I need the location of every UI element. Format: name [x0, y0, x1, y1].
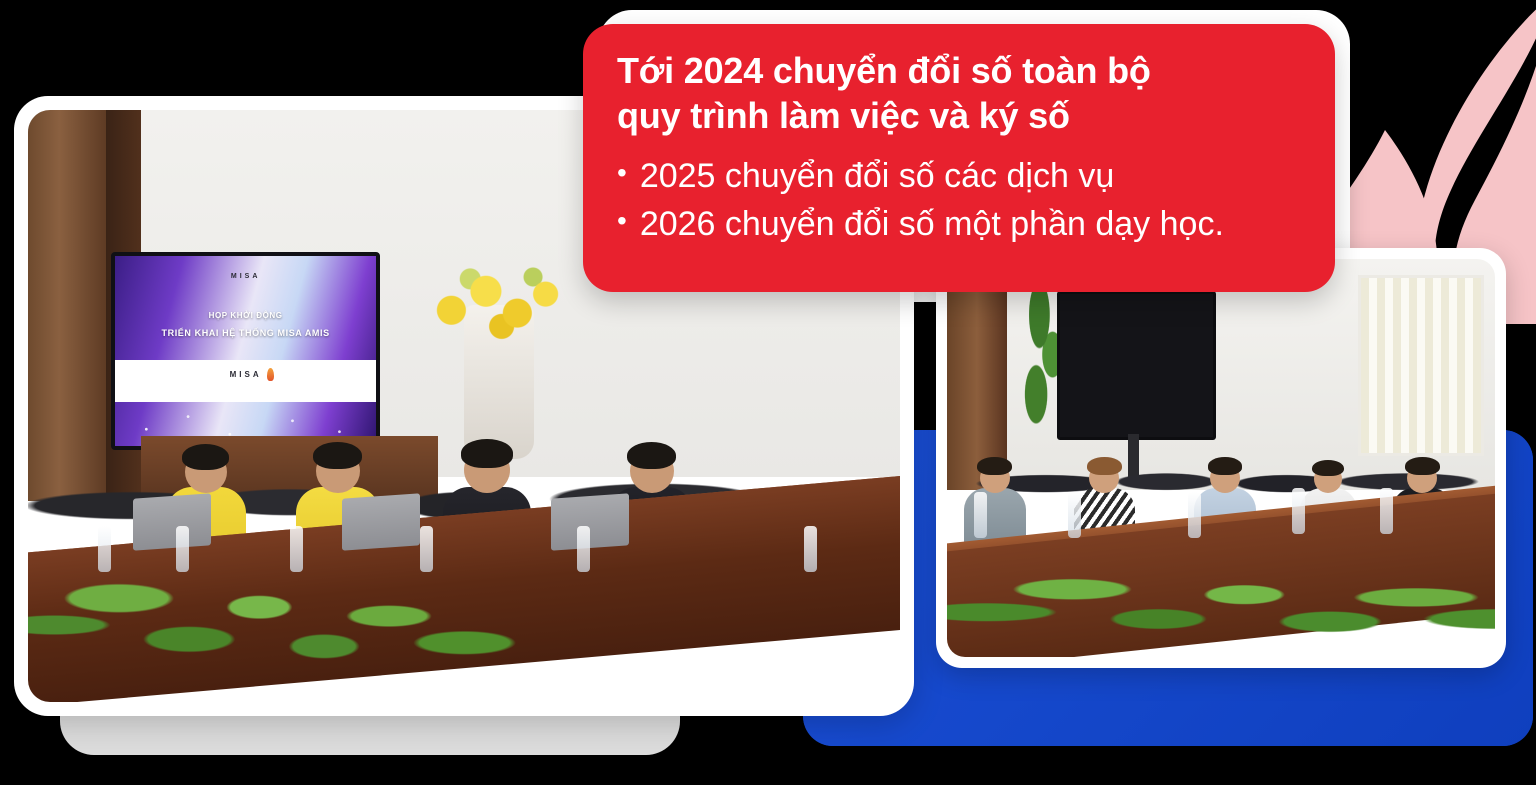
wall-display [1057, 291, 1216, 440]
callout-bullet-text: 2026 chuyển đổi số một phần dạy học. [640, 200, 1224, 248]
photo-right-meeting [936, 248, 1506, 668]
slide-title-line-2: TRIỂN KHAI HỆ THỐNG MISA AMIS [115, 328, 377, 338]
slide-logo-mid: MISA [115, 370, 377, 379]
slide-logo-top: MISA [115, 273, 377, 280]
misa-flame-icon [267, 368, 274, 381]
water-bottle-1 [974, 492, 987, 538]
photo-right-scene [947, 259, 1495, 657]
laptop-3 [551, 493, 629, 550]
bullet-marker-icon: • [617, 152, 627, 194]
water-bottle-6 [804, 526, 817, 572]
callout-heading: Tới 2024 chuyển đổi số toàn bộ quy trình… [617, 48, 1301, 138]
yellow-bouquet [420, 258, 577, 353]
bullet-marker-icon: • [617, 200, 627, 242]
callout-bullet-item: • 2026 chuyển đổi số một phần dạy học. [617, 200, 1301, 248]
poster-canvas: MISA HỌP KHỞI ĐỘNG TRIỂN KHAI HỆ THỐNG M… [0, 0, 1536, 785]
callout-bullet-text: 2025 chuyển đổi số các dịch vụ [640, 152, 1114, 200]
foreground-plants [947, 538, 1495, 657]
foreground-plants [28, 536, 551, 702]
water-bottle-5 [1380, 488, 1393, 534]
water-bottle-2 [1068, 492, 1081, 538]
callout-bullet-list: • 2025 chuyển đổi số các dịch vụ • 2026 … [617, 152, 1301, 249]
water-bottle-4 [1292, 488, 1305, 534]
water-bottle-5 [577, 526, 590, 572]
red-callout-card: Tới 2024 chuyển đổi số toàn bộ quy trình… [583, 24, 1335, 292]
slide-white-band [115, 360, 377, 402]
slide-title-line-1: HỌP KHỞI ĐỘNG [115, 311, 377, 320]
water-bottle-3 [1188, 492, 1201, 538]
callout-bullet-item: • 2025 chuyển đổi số các dịch vụ [617, 152, 1301, 200]
